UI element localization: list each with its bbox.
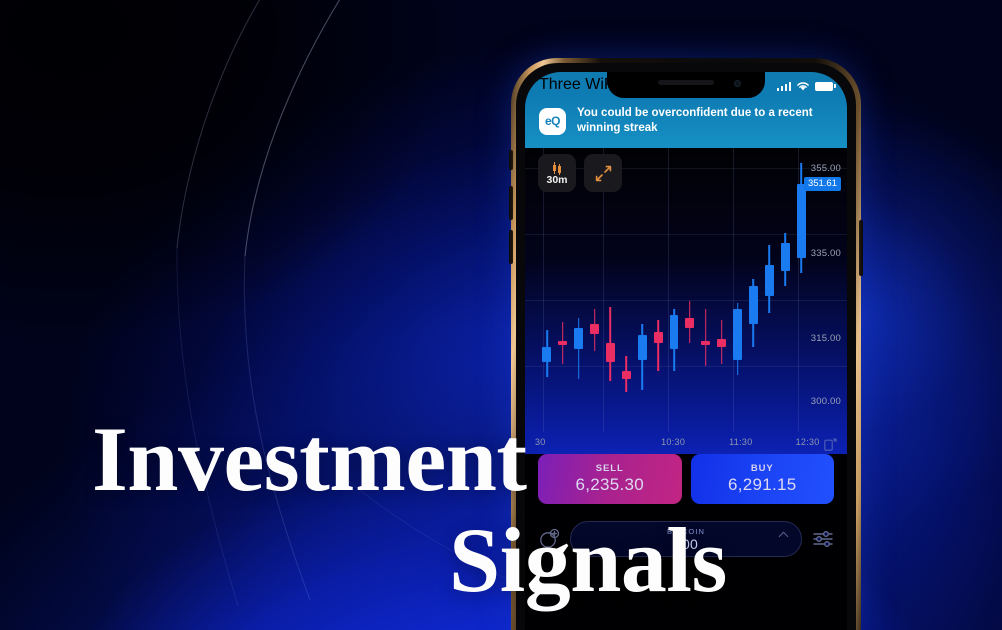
candle-body bbox=[717, 339, 726, 347]
expand-arrows-icon bbox=[594, 164, 613, 183]
candlestick bbox=[654, 320, 663, 371]
share-icon[interactable] bbox=[824, 437, 837, 451]
time-tick-label: 11:30 bbox=[729, 437, 752, 447]
candlestick bbox=[606, 307, 615, 381]
candlestick-icon bbox=[553, 161, 561, 174]
phone-volume-down-button[interactable] bbox=[509, 230, 513, 264]
candle-body bbox=[749, 286, 758, 324]
signal-bars-icon bbox=[777, 82, 792, 91]
price-tick-label: 300.00 bbox=[811, 396, 841, 407]
earpiece-speaker bbox=[658, 80, 714, 85]
phone-mute-switch[interactable] bbox=[509, 150, 513, 170]
candle-body bbox=[781, 243, 790, 271]
time-tick-label: 10:30 bbox=[661, 437, 685, 447]
sell-label: SELL bbox=[596, 463, 624, 474]
price-tick-label: 355.00 bbox=[811, 163, 841, 174]
order-controls: BITCOIN 100 bbox=[525, 516, 847, 562]
candlestick bbox=[542, 330, 551, 377]
candlestick bbox=[558, 322, 567, 364]
candle-wick bbox=[657, 320, 659, 371]
candle-body bbox=[590, 324, 599, 335]
battery-icon bbox=[815, 82, 833, 91]
candlestick bbox=[781, 233, 790, 286]
candlestick bbox=[638, 324, 647, 390]
price-tick-label: 335.00 bbox=[811, 248, 841, 259]
candle-body bbox=[733, 309, 742, 360]
candlestick bbox=[590, 309, 599, 351]
candle-body bbox=[685, 318, 694, 329]
candlestick bbox=[733, 303, 742, 375]
buy-button[interactable]: BUY 6,291.15 bbox=[691, 454, 835, 504]
phone-bezel: Three WiFi bbox=[516, 63, 856, 630]
sell-button[interactable]: SELL 6,235.30 bbox=[538, 454, 682, 504]
status-icons bbox=[777, 79, 834, 92]
price-tick-label: 315.00 bbox=[811, 333, 841, 344]
sell-price: 6,235.30 bbox=[575, 475, 644, 495]
candlestick bbox=[765, 245, 774, 313]
candle-body bbox=[574, 328, 583, 349]
candle-body bbox=[701, 341, 710, 345]
notification-banner[interactable]: eQ You could be overconfident due to a r… bbox=[525, 98, 847, 146]
phone-volume-up-button[interactable] bbox=[509, 186, 513, 220]
candle-body bbox=[765, 265, 774, 297]
buy-label: BUY bbox=[751, 463, 774, 474]
candlestick bbox=[685, 301, 694, 343]
buy-price: 6,291.15 bbox=[728, 475, 797, 495]
trade-buttons: SELL 6,235.30 BUY 6,291.15 bbox=[525, 454, 847, 504]
wifi-icon bbox=[796, 81, 810, 92]
candlestick bbox=[574, 318, 583, 379]
time-tick-label: 12:30 bbox=[796, 437, 820, 447]
page-stage: Three WiFi bbox=[0, 0, 1002, 630]
candle-body bbox=[606, 343, 615, 362]
carrier-label: Three WiFi bbox=[539, 76, 617, 94]
sliders-icon[interactable] bbox=[812, 528, 834, 550]
current-price-badge: 351.61 bbox=[804, 177, 841, 191]
candle-body bbox=[654, 332, 663, 343]
candlestick bbox=[701, 309, 710, 366]
timeframe-button[interactable]: 30m bbox=[538, 154, 576, 192]
expand-chart-button[interactable] bbox=[584, 154, 622, 192]
price-chart[interactable]: 30m 355.00335.00315.00300.00351.61 bbox=[525, 148, 847, 454]
add-circle-icon[interactable] bbox=[538, 528, 560, 550]
candlestick bbox=[622, 356, 631, 392]
asset-label: BITCOIN bbox=[667, 527, 705, 536]
candle-body bbox=[638, 335, 647, 360]
candlestick bbox=[749, 279, 758, 347]
order-amount: 100 bbox=[674, 536, 698, 552]
candle-body bbox=[558, 341, 567, 345]
candlestick bbox=[670, 309, 679, 370]
phone-power-button[interactable] bbox=[859, 220, 863, 276]
phone-mockup: Three WiFi bbox=[499, 58, 867, 630]
candle-wick bbox=[705, 309, 707, 366]
asset-selector[interactable]: BITCOIN 100 bbox=[570, 521, 802, 557]
time-tick-label: 30 bbox=[535, 437, 546, 447]
candle-body bbox=[622, 371, 631, 379]
candle-body bbox=[670, 315, 679, 349]
timeframe-label: 30m bbox=[546, 175, 567, 186]
front-camera bbox=[734, 80, 741, 87]
candle-body bbox=[797, 184, 806, 259]
chart-toolbar: 30m bbox=[538, 154, 622, 192]
notification-message: You could be overconfident due to a rece… bbox=[577, 106, 833, 136]
phone-screen: Three WiFi bbox=[525, 72, 847, 630]
candle-body bbox=[542, 347, 551, 362]
phone-frame: Three WiFi bbox=[511, 58, 861, 630]
app-icon: eQ bbox=[539, 108, 566, 135]
chevron-up-icon[interactable] bbox=[779, 532, 789, 542]
candlestick bbox=[717, 320, 726, 365]
phone-notch bbox=[607, 72, 765, 98]
time-axis: 3010:3011:3012:30 bbox=[525, 437, 847, 451]
